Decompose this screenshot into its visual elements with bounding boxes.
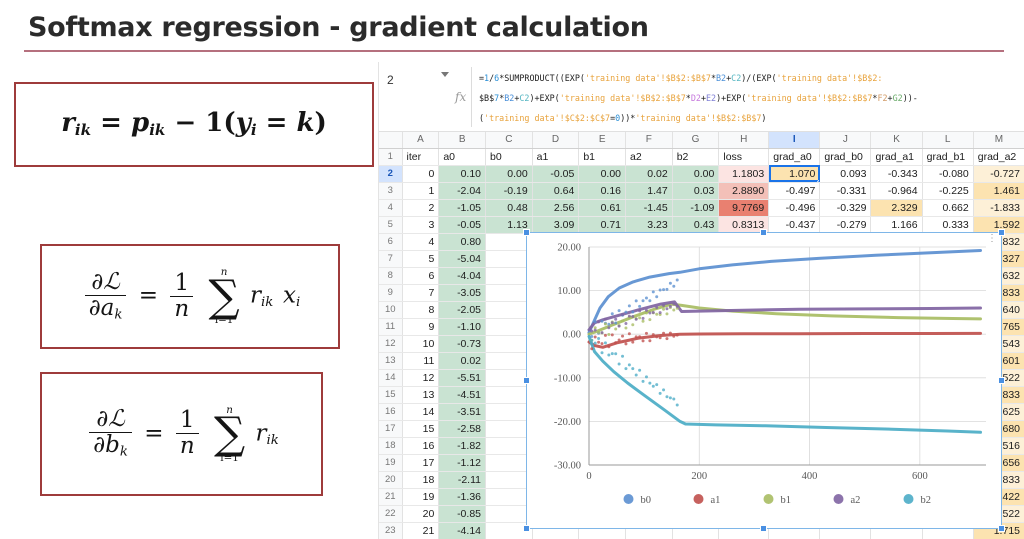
sheet-cell[interactable]: -0.19 bbox=[486, 182, 533, 199]
sheet-cell[interactable]: 0.61 bbox=[579, 199, 626, 216]
column-header-f[interactable]: F bbox=[626, 132, 673, 148]
formula-input[interactable]: =1/6*SUMPRODUCT((EXP('training data'!$B$… bbox=[479, 68, 1019, 128]
row-header-19[interactable]: 19 bbox=[379, 454, 402, 471]
title-underline bbox=[24, 50, 1004, 52]
sheet-cell[interactable]: -1.05 bbox=[439, 199, 486, 216]
divider bbox=[471, 67, 472, 127]
sheet-cell[interactable]: 21 bbox=[402, 522, 439, 539]
sheet-cell[interactable]: 20 bbox=[402, 505, 439, 522]
column-label-cell[interactable]: b1 bbox=[579, 148, 626, 165]
column-header-j[interactable]: J bbox=[820, 132, 871, 148]
table-row[interactable]: 200.100.00-0.050.000.020.001.18031.0700.… bbox=[379, 165, 1024, 182]
column-header-i[interactable]: I bbox=[769, 132, 820, 148]
column-header-a[interactable]: A bbox=[402, 132, 439, 148]
sheet-cell[interactable]: 18 bbox=[402, 471, 439, 488]
row-header-23[interactable]: 23 bbox=[379, 522, 402, 539]
sheet-cell[interactable]: 19 bbox=[402, 488, 439, 505]
column-header-row: ABCDEFGHIJKLM bbox=[379, 132, 1024, 148]
sheet-cell[interactable]: 0.662 bbox=[922, 199, 973, 216]
sheet-cell[interactable]: 2.8890 bbox=[719, 182, 769, 199]
select-all-corner[interactable] bbox=[379, 132, 402, 148]
column-label-cell[interactable]: grad_b0 bbox=[820, 148, 871, 165]
sheet-cell[interactable]: -4.14 bbox=[439, 522, 486, 539]
column-header-d[interactable]: D bbox=[532, 132, 579, 148]
sheet-cell[interactable]: 0.03 bbox=[672, 182, 719, 199]
sheet-cell[interactable]: 2 bbox=[402, 199, 439, 216]
svg-text:b0: b0 bbox=[641, 495, 652, 506]
selection-handle[interactable] bbox=[817, 180, 820, 183]
sheet-cell[interactable]: -0.727 bbox=[973, 165, 1024, 182]
sheet-cell[interactable]: 0.10 bbox=[439, 165, 486, 182]
row-header-6[interactable]: 6 bbox=[379, 233, 402, 250]
svg-text:-30.00: -30.00 bbox=[554, 461, 581, 472]
sheet-cell[interactable]: -2.58 bbox=[439, 420, 486, 437]
table-row[interactable]: 42-1.050.482.560.61-1.45-1.099.7769-0.49… bbox=[379, 199, 1024, 216]
sheet-cell[interactable]: 1 bbox=[402, 182, 439, 199]
row-header-14[interactable]: 14 bbox=[379, 369, 402, 386]
formula-box-residual: rik = pik − 1(yi = k) bbox=[14, 82, 374, 167]
row-header-22[interactable]: 22 bbox=[379, 505, 402, 522]
sheet-cell[interactable]: -0.437 bbox=[769, 216, 820, 233]
row-header-7[interactable]: 7 bbox=[379, 250, 402, 267]
sheet-cell[interactable]: 1.47 bbox=[626, 182, 673, 199]
svg-text:10.00: 10.00 bbox=[557, 286, 581, 297]
sheet-cell[interactable]: -2.11 bbox=[439, 471, 486, 488]
chart-handle-ml[interactable] bbox=[523, 377, 530, 384]
row-header-2[interactable]: 2 bbox=[379, 165, 402, 182]
row-header-18[interactable]: 18 bbox=[379, 437, 402, 454]
column-header-h[interactable]: H bbox=[719, 132, 769, 148]
sheet-cell[interactable]: 1.461 bbox=[973, 182, 1024, 199]
svg-text:400: 400 bbox=[802, 471, 818, 482]
sheet-cell[interactable]: -0.329 bbox=[820, 199, 871, 216]
sheet-cell[interactable]: -1.36 bbox=[439, 488, 486, 505]
svg-text:200: 200 bbox=[691, 471, 707, 482]
sheet-cell[interactable]: 3.09 bbox=[532, 216, 579, 233]
sheet-cell[interactable]: 4 bbox=[402, 233, 439, 250]
chart-menu-icon[interactable]: ⋮ bbox=[987, 237, 997, 240]
sheet-cell[interactable]: -0.497 bbox=[769, 182, 820, 199]
sheet-cell[interactable]: -3.05 bbox=[439, 284, 486, 301]
column-label-cell[interactable]: a2 bbox=[626, 148, 673, 165]
svg-text:20.00: 20.00 bbox=[557, 243, 581, 254]
sheet-cell[interactable]: -1.09 bbox=[672, 199, 719, 216]
page-title: Softmax regression - gradient calculatio… bbox=[28, 12, 649, 43]
column-label-cell[interactable]: b2 bbox=[672, 148, 719, 165]
sheet-cell[interactable]: 9 bbox=[402, 318, 439, 335]
column-label-cell[interactable]: grad_a0 bbox=[769, 148, 820, 165]
sheet-cell[interactable]: 9.7769 bbox=[719, 199, 769, 216]
table-row[interactable]: 31-2.04-0.190.640.161.470.032.8890-0.497… bbox=[379, 182, 1024, 199]
chart-handle-tr[interactable] bbox=[998, 229, 1005, 236]
svg-text:-20.00: -20.00 bbox=[554, 417, 581, 428]
column-label-cell[interactable]: a0 bbox=[439, 148, 486, 165]
sheet-cell[interactable]: 0.80 bbox=[439, 233, 486, 250]
row-header-9[interactable]: 9 bbox=[379, 284, 402, 301]
row-header-21[interactable]: 21 bbox=[379, 488, 402, 505]
sheet-cell[interactable]: -0.73 bbox=[439, 335, 486, 352]
row-header-16[interactable]: 16 bbox=[379, 403, 402, 420]
sheet-cell[interactable]: -0.496 bbox=[769, 199, 820, 216]
sheet-cell[interactable]: 0.333 bbox=[922, 216, 973, 233]
chart-handle-br[interactable] bbox=[998, 525, 1005, 532]
row-header-1[interactable]: 1 bbox=[379, 148, 402, 165]
column-header-k[interactable]: K bbox=[871, 132, 922, 148]
sheet-cell[interactable]: 8 bbox=[402, 301, 439, 318]
column-label-cell[interactable]: grad_b1 bbox=[922, 148, 973, 165]
column-label-cell[interactable]: grad_a1 bbox=[871, 148, 922, 165]
sheet-cell[interactable]: 2.56 bbox=[532, 199, 579, 216]
formula-bar[interactable]: 2 fx =1/6*SUMPRODUCT((EXP('training data… bbox=[379, 62, 1024, 132]
sheet-cell[interactable]: 11 bbox=[402, 352, 439, 369]
sheet-cell[interactable]: 10 bbox=[402, 335, 439, 352]
sheet-cell[interactable]: 0.00 bbox=[672, 165, 719, 182]
row-header-3[interactable]: 3 bbox=[379, 182, 402, 199]
sheet-cell[interactable]: -1.45 bbox=[626, 199, 673, 216]
column-header-g[interactable]: G bbox=[672, 132, 719, 148]
row-header-11[interactable]: 11 bbox=[379, 318, 402, 335]
row-header-12[interactable]: 12 bbox=[379, 335, 402, 352]
sheet-cell[interactable]: 0.00 bbox=[579, 165, 626, 182]
column-header-l[interactable]: L bbox=[922, 132, 973, 148]
formula-residual: rik = pik − 1(yi = k) bbox=[61, 110, 327, 138]
sheet-cell[interactable]: 7 bbox=[402, 284, 439, 301]
row-header-8[interactable]: 8 bbox=[379, 267, 402, 284]
column-header-m[interactable]: M bbox=[973, 132, 1024, 148]
table-row[interactable]: 53-0.051.133.090.713.230.430.8313-0.437-… bbox=[379, 216, 1024, 233]
chart-object[interactable]: ⋮ 20.0010.000.00-10.00-20.00-30.00020040… bbox=[526, 232, 1002, 529]
formula-grad-b: ∂ℒ∂bk = 1n n∑i=1 rik bbox=[84, 404, 279, 465]
row-header-15[interactable]: 15 bbox=[379, 386, 402, 403]
row-header-4[interactable]: 4 bbox=[379, 199, 402, 216]
sheet-cell[interactable]: -0.05 bbox=[439, 216, 486, 233]
svg-text:b2: b2 bbox=[921, 495, 932, 506]
sheet-cell[interactable]: -0.225 bbox=[922, 182, 973, 199]
table-row[interactable]: 1itera0b0a1b1a2b2lossgrad_a0grad_b0grad_… bbox=[379, 148, 1024, 165]
sheet-cell[interactable]: -0.080 bbox=[922, 165, 973, 182]
row-header-17[interactable]: 17 bbox=[379, 420, 402, 437]
sheet-cell[interactable]: -0.331 bbox=[820, 182, 871, 199]
sheet-cell[interactable]: -2.04 bbox=[439, 182, 486, 199]
column-header-e[interactable]: E bbox=[579, 132, 626, 148]
chart-handle-mr[interactable] bbox=[998, 377, 1005, 384]
chart-handle-tl[interactable] bbox=[523, 229, 530, 236]
sheet-cell[interactable]: -1.82 bbox=[439, 437, 486, 454]
sheet-cell[interactable]: 0.43 bbox=[672, 216, 719, 233]
sheet-cell[interactable]: 12 bbox=[402, 369, 439, 386]
sheet-cell[interactable]: -0.343 bbox=[871, 165, 922, 182]
slide-root: Softmax regression - gradient calculatio… bbox=[0, 0, 1024, 539]
column-label-cell[interactable]: a1 bbox=[532, 148, 579, 165]
row-header-10[interactable]: 10 bbox=[379, 301, 402, 318]
sheet-cell[interactable]: -1.833 bbox=[973, 199, 1024, 216]
formula-box-grad-a: ∂ℒ∂ak = 1n n∑i=1 rik xi bbox=[40, 244, 340, 349]
row-header-20[interactable]: 20 bbox=[379, 471, 402, 488]
sheet-cell[interactable]: 0.00 bbox=[486, 165, 533, 182]
sheet-cell[interactable]: 0.02 bbox=[626, 165, 673, 182]
sheet-cell[interactable]: 2.329 bbox=[871, 199, 922, 216]
sheet-cell[interactable]: 0.02 bbox=[439, 352, 486, 369]
sheet-cell[interactable]: 1.166 bbox=[871, 216, 922, 233]
svg-text:-10.00: -10.00 bbox=[554, 373, 581, 384]
sheet-cell[interactable]: -0.964 bbox=[871, 182, 922, 199]
spreadsheet-panel[interactable]: 2 fx =1/6*SUMPRODUCT((EXP('training data… bbox=[378, 62, 1024, 539]
sheet-cell[interactable]: 0.71 bbox=[579, 216, 626, 233]
chevron-down-icon[interactable] bbox=[441, 72, 449, 77]
sheet-cell[interactable]: 0.64 bbox=[532, 182, 579, 199]
sheet-cell[interactable]: -5.51 bbox=[439, 369, 486, 386]
sheet-cell[interactable]: 0.16 bbox=[579, 182, 626, 199]
sheet-cell[interactable]: -5.04 bbox=[439, 250, 486, 267]
sheet-cell[interactable]: 3 bbox=[402, 216, 439, 233]
chart-handle-bc[interactable] bbox=[760, 525, 767, 532]
sheet-cell[interactable]: 14 bbox=[402, 403, 439, 420]
sheet-cell[interactable]: -4.51 bbox=[439, 386, 486, 403]
column-label-cell[interactable]: loss bbox=[719, 148, 769, 165]
column-label-cell[interactable]: grad_a2 bbox=[973, 148, 1024, 165]
sheet-cell[interactable]: 6 bbox=[402, 267, 439, 284]
row-header-13[interactable]: 13 bbox=[379, 352, 402, 369]
column-label-cell[interactable]: iter bbox=[402, 148, 439, 165]
sheet-cell[interactable]: 5 bbox=[402, 250, 439, 267]
svg-text:a2: a2 bbox=[851, 495, 861, 506]
sheet-cell[interactable]: 13 bbox=[402, 386, 439, 403]
fx-icon: fx bbox=[455, 90, 466, 104]
chart-handle-bl[interactable] bbox=[523, 525, 530, 532]
sheet-cell[interactable]: -1.12 bbox=[439, 454, 486, 471]
sheet-cell[interactable]: -1.10 bbox=[439, 318, 486, 335]
svg-text:a1: a1 bbox=[711, 495, 721, 506]
sheet-cell[interactable]: 17 bbox=[402, 454, 439, 471]
column-label-cell[interactable]: b0 bbox=[486, 148, 533, 165]
formula-box-grad-b: ∂ℒ∂bk = 1n n∑i=1 rik bbox=[40, 372, 323, 496]
svg-text:600: 600 bbox=[912, 471, 928, 482]
sheet-cell[interactable]: 0 bbox=[402, 165, 439, 182]
sheet-cell[interactable]: 0.093 bbox=[820, 165, 871, 182]
sheet-cell[interactable]: 15 bbox=[402, 420, 439, 437]
sheet-cell[interactable]: 16 bbox=[402, 437, 439, 454]
sheet-cell[interactable]: 3.23 bbox=[626, 216, 673, 233]
formula-grad-a: ∂ℒ∂ak = 1n n∑i=1 rik xi bbox=[80, 266, 300, 327]
sheet-cell[interactable]: 1.070 bbox=[769, 165, 820, 182]
sheet-cell[interactable]: 1.1803 bbox=[719, 165, 769, 182]
chart-handle-tc[interactable] bbox=[760, 229, 767, 236]
column-header-b[interactable]: B bbox=[439, 132, 486, 148]
sheet-cell[interactable]: -0.279 bbox=[820, 216, 871, 233]
line-chart: 20.0010.000.00-10.00-20.00-30.0002004006… bbox=[527, 233, 1000, 527]
svg-text:0: 0 bbox=[586, 471, 591, 482]
sheet-cell[interactable]: -0.85 bbox=[439, 505, 486, 522]
svg-text:0.00: 0.00 bbox=[563, 330, 581, 341]
column-header-c[interactable]: C bbox=[486, 132, 533, 148]
sheet-cell[interactable]: -3.51 bbox=[439, 403, 486, 420]
row-header-5[interactable]: 5 bbox=[379, 216, 402, 233]
sheet-cell[interactable]: -4.04 bbox=[439, 267, 486, 284]
sheet-cell[interactable]: -2.05 bbox=[439, 301, 486, 318]
sheet-cell[interactable]: 0.48 bbox=[486, 199, 533, 216]
svg-text:b1: b1 bbox=[781, 495, 792, 506]
sheet-cell[interactable]: -0.05 bbox=[532, 165, 579, 182]
